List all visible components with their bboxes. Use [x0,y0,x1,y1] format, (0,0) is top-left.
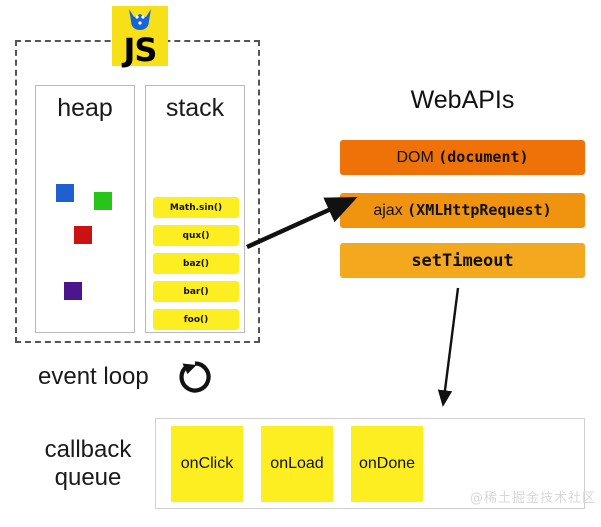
stack-frame-label: bar() [183,287,208,297]
circular-arrow-icon [176,358,214,396]
heap-object-red [74,226,92,244]
stack-frame: Math.sin() [153,197,239,218]
stack-title: stack [146,94,244,123]
callback-queue-item-label: onDone [359,455,415,473]
webapi-item[interactable]: setTimeout [340,243,585,278]
webapi-item[interactable]: DOM (document) [340,140,585,175]
js-logo-text: JS [112,33,168,67]
webapi-item-prefix: DOM [396,149,438,166]
arrow-stack-to-webapis [247,204,342,247]
callback-queue-item-label: onLoad [270,455,323,473]
diagram-canvas: JS heap stack Math.sin()qux()baz()bar()f… [0,0,601,527]
webapi-item-mono: (XMLHttpRequest) [407,201,552,219]
stack-frame: qux() [153,225,239,246]
stack-frame-label: qux() [183,231,210,241]
stack-frame-label: Math.sin() [170,203,222,213]
event-loop-label: event loop [38,363,149,391]
stack-frame: foo() [153,309,239,330]
callback-queue-label-line2: queue [28,464,148,492]
webapi-item-label: DOM (document) [396,148,528,167]
heap-object-blue [56,184,74,202]
callback-queue-item[interactable]: onClick [171,426,243,502]
stack-frame: baz() [153,253,239,274]
heap-object-purple [64,282,82,300]
stack-frame-label: foo() [184,315,209,325]
js-logo: JS [112,6,168,66]
callback-queue-label: callback queue [28,436,148,492]
watermark: @稀土掘金技术社区 [470,487,596,506]
webapis-title: WebAPIs [340,86,585,115]
webapi-item[interactable]: ajax (XMLHttpRequest) [340,193,585,228]
js-mascot-icon [127,8,153,32]
stack-panel: stack Math.sin()qux()baz()bar()foo() [145,85,245,333]
webapi-item-prefix: ajax [373,202,407,219]
stack-frame: bar() [153,281,239,302]
heap-title: heap [36,94,134,123]
webapi-item-label: setTimeout [411,251,513,271]
callback-queue-item-label: onClick [181,455,233,473]
heap-object-green [94,192,112,210]
callback-queue-label-line1: callback [28,436,148,464]
callback-queue-item[interactable]: onDone [351,426,423,502]
stack-frame-label: baz() [183,259,209,269]
webapi-item-label: ajax (XMLHttpRequest) [373,201,551,220]
webapi-item-mono: (document) [438,148,528,166]
heap-panel: heap [35,85,135,333]
callback-queue-item[interactable]: onLoad [261,426,333,502]
arrow-webapis-to-queue [444,288,458,398]
